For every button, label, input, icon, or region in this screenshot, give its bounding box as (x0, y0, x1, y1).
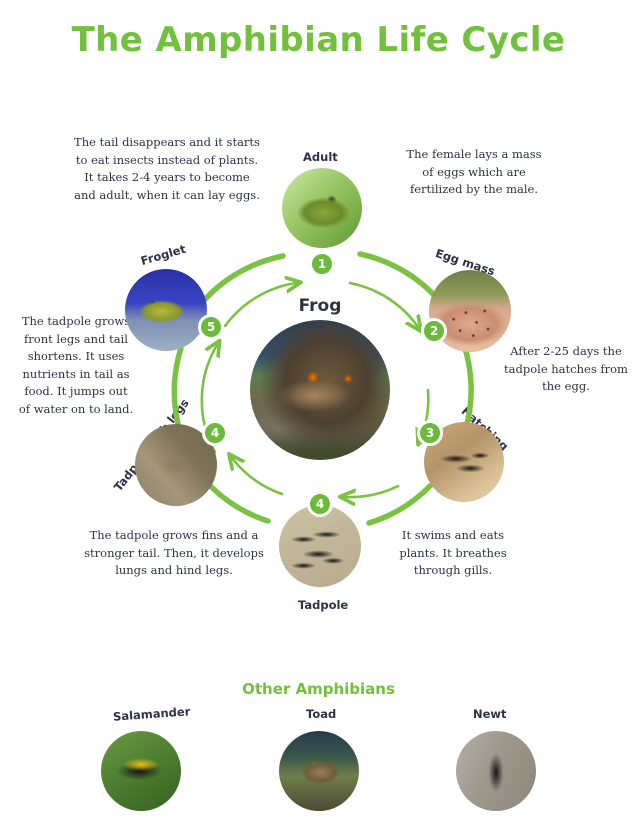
badge-5: 5 (198, 314, 224, 340)
center-frog-eyes (250, 320, 390, 460)
photo-froglet (125, 269, 207, 351)
photo-adult (282, 168, 362, 248)
badge-1: 1 (309, 251, 335, 277)
badge-2: 2 (421, 318, 447, 344)
photo-tadpole (279, 505, 361, 587)
center-label: Frog (240, 296, 400, 316)
photo-center-frog (250, 320, 390, 460)
badge-4-tadpole: 4 (307, 491, 333, 517)
infographic-page: The Amphibian Life Cycle The tail d (0, 0, 637, 826)
badge-3: 3 (417, 420, 443, 446)
badge-4-tadpole-with-legs: 4 (202, 420, 228, 446)
